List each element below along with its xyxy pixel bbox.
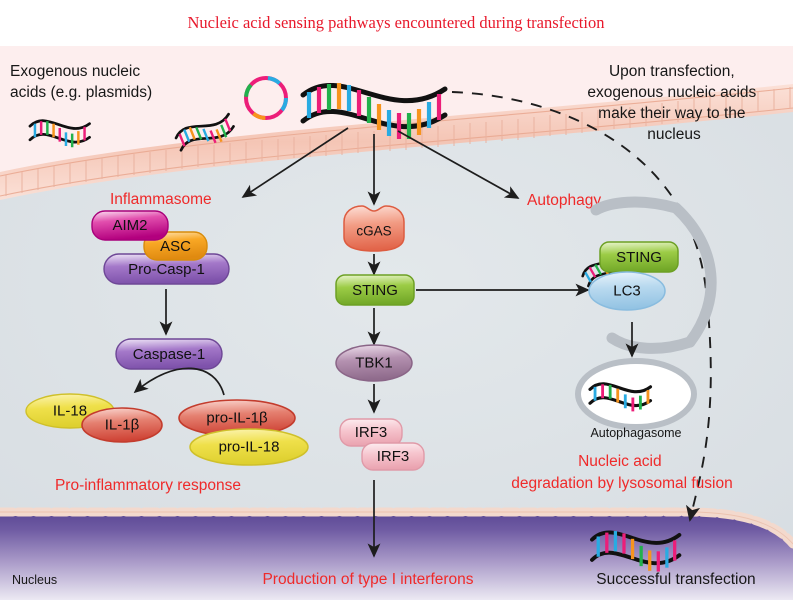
node-lc3-label: LC3 — [613, 283, 641, 300]
figure-canvas: Nucleic acid sensing pathways encountere… — [0, 0, 793, 600]
node-cgas-label: cGAS — [356, 224, 391, 239]
node-irf3-a-label: IRF3 — [355, 424, 388, 441]
autophagasome-label: Autophagasome — [590, 426, 681, 440]
node-tbk1[interactable]: TBK1 — [336, 345, 412, 381]
node-il1b-label: IL-1β — [105, 417, 140, 434]
node-asc-label: ASC — [160, 238, 191, 255]
node-il18-label: IL-18 — [53, 403, 87, 420]
pro-inflammatory-label: Pro-inflammatory response — [55, 477, 241, 494]
node-sting-central-label: STING — [352, 282, 398, 299]
node-aim2[interactable]: AIM2 — [92, 211, 168, 240]
node-irf3-b-label: IRF3 — [377, 448, 410, 465]
inflammasome-label: Inflammasome — [110, 191, 212, 208]
nucleus-label: Nucleus — [12, 573, 57, 587]
node-pro-il1b-label: pro-IL-1β — [206, 410, 268, 427]
pathway-diagram: Nucleic acid sensing pathways encountere… — [0, 0, 793, 600]
node-irf3-a[interactable]: IRF3 — [340, 419, 402, 446]
plasmid-circle — [246, 78, 286, 118]
node-sting-central[interactable]: STING — [336, 275, 414, 305]
node-aim2-label: AIM2 — [112, 217, 147, 234]
node-sting-autophagy[interactable]: STING — [600, 242, 678, 272]
node-tbk1-label: TBK1 — [355, 355, 393, 372]
node-il1b[interactable]: IL-1β — [82, 408, 162, 442]
node-lc3[interactable]: LC3 — [589, 272, 665, 310]
node-caspase1-label: Caspase-1 — [133, 346, 206, 363]
node-pro-casp1-label: Pro-Casp-1 — [128, 261, 205, 278]
page-title: Nucleic acid sensing pathways encountere… — [188, 13, 605, 32]
autophagasome — [578, 361, 694, 427]
node-cgas[interactable]: cGAS — [344, 206, 404, 251]
autophagy-label: Autophagy — [527, 192, 601, 209]
interferons-label: Production of type I interferons — [262, 571, 473, 588]
successful-transfection-label: Successful transfection — [596, 571, 755, 588]
node-irf3-b[interactable]: IRF3 — [362, 443, 424, 470]
node-sting-autophagy-label: STING — [616, 249, 662, 266]
node-pro-il18-label: pro-IL-18 — [219, 439, 280, 456]
node-caspase1[interactable]: Caspase-1 — [116, 339, 222, 369]
node-pro-il18[interactable]: pro-IL-18 — [190, 429, 308, 465]
